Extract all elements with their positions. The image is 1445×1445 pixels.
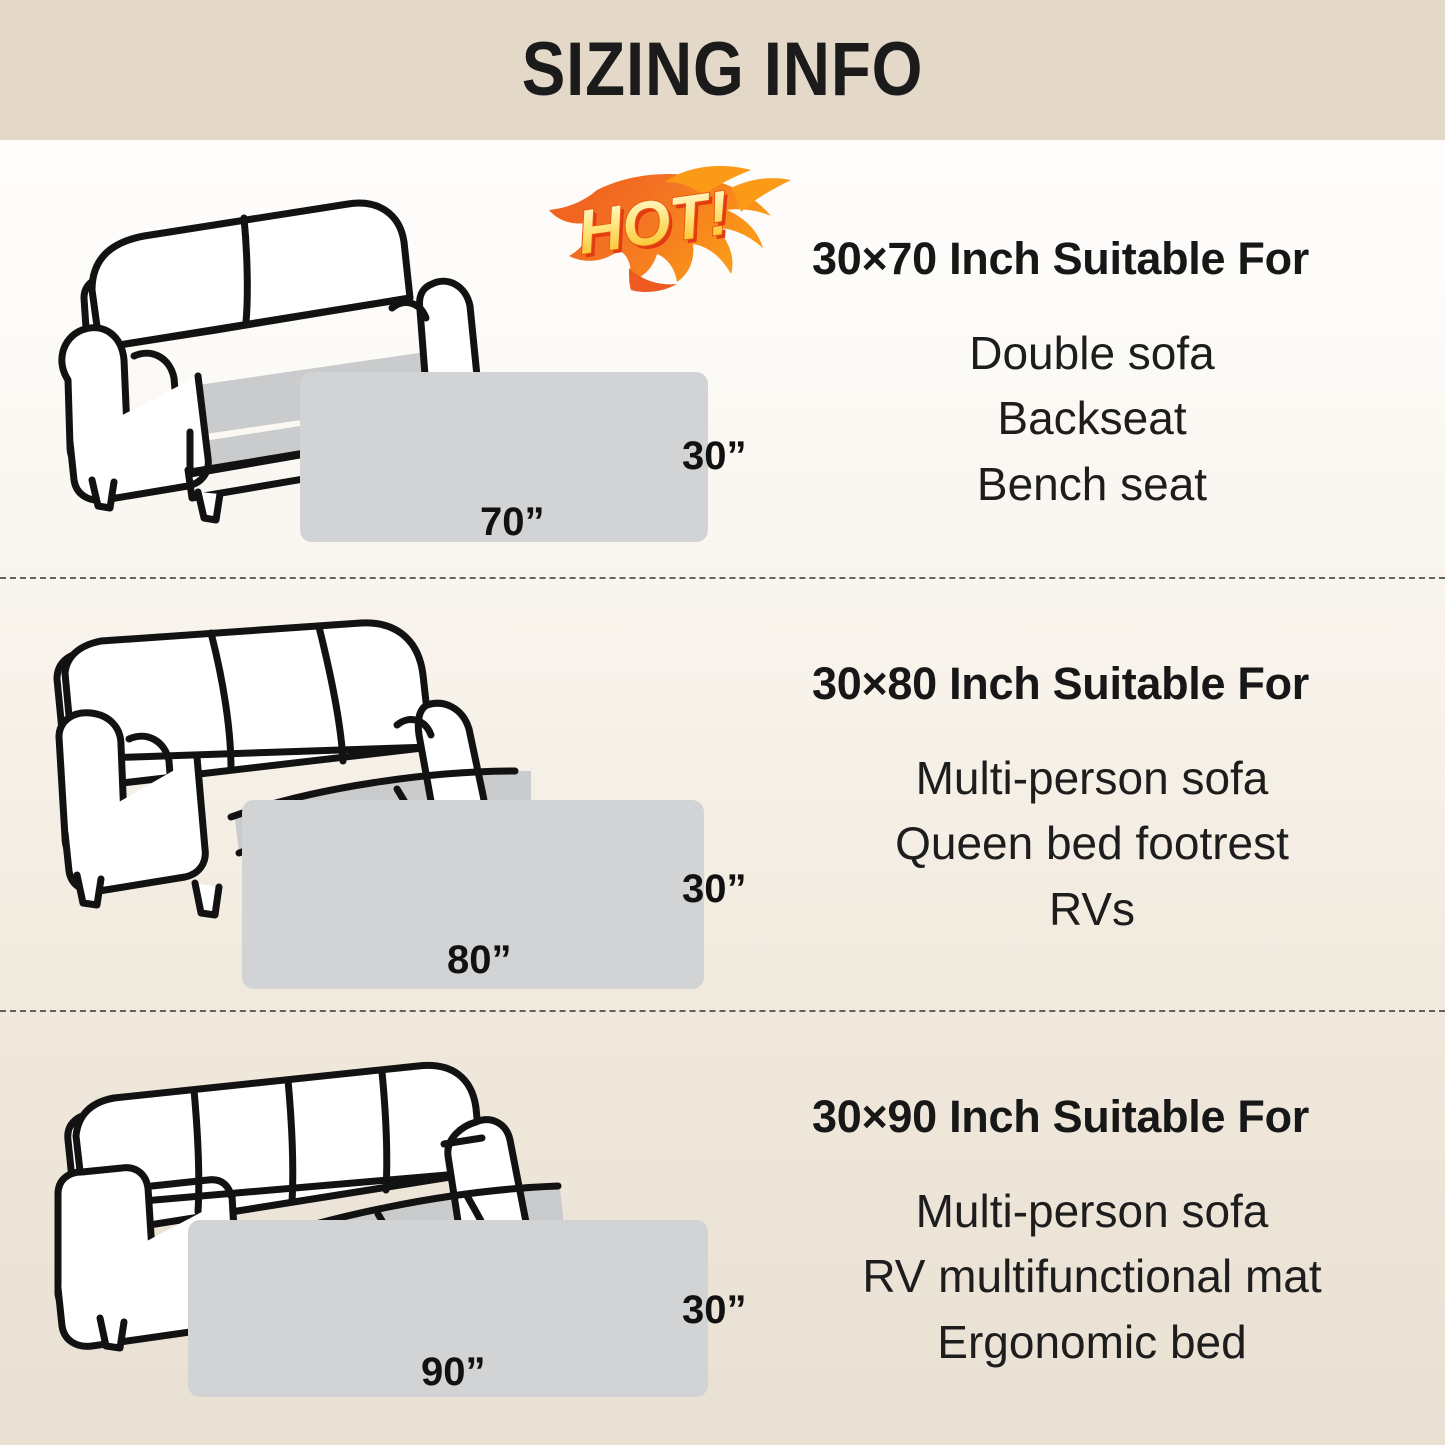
width-label-90: 90” <box>421 1352 486 1392</box>
text-column-30x70: 30×70 Inch Suitable For Double sofa Back… <box>812 236 1372 517</box>
use-item: Ergonomic bed <box>812 1310 1372 1375</box>
section-30x80: 80” 30” 30×80 Inch Suitable For Multi-pe… <box>0 579 1445 1010</box>
size-title-30x80: 30×80 Inch Suitable For <box>812 661 1372 706</box>
use-item: Double sofa <box>812 321 1372 386</box>
section-30x90: 90” 30” 30×90 Inch Suitable For Multi-pe… <box>0 1012 1445 1445</box>
size-title-30x90: 30×90 Inch Suitable For <box>812 1094 1372 1139</box>
width-label-70: 70” <box>480 502 545 542</box>
text-column-30x90: 30×90 Inch Suitable For Multi-person sof… <box>812 1094 1372 1375</box>
height-label-30: 30” <box>682 869 747 909</box>
use-item: Multi-person sofa <box>812 746 1372 811</box>
use-list-30x80: Multi-person sofa Queen bed footrest RVs <box>812 746 1372 942</box>
use-item: Bench seat <box>812 452 1372 517</box>
use-item: Multi-person sofa <box>812 1179 1372 1244</box>
text-column-30x80: 30×80 Inch Suitable For Multi-person sof… <box>812 661 1372 942</box>
size-title-30x70: 30×70 Inch Suitable For <box>812 236 1372 281</box>
use-list-30x70: Double sofa Backseat Bench seat <box>812 321 1372 517</box>
header-band: SIZING INFO <box>0 0 1445 140</box>
use-item: Backseat <box>812 386 1372 451</box>
height-label-30: 30” <box>682 436 747 476</box>
use-item: RVs <box>812 877 1372 942</box>
page-title: SIZING INFO <box>522 32 924 108</box>
section-30x70: HOT! HOT! 70” 30” 30×70 Inch Suitable Fo… <box>0 140 1445 577</box>
use-list-30x90: Multi-person sofa RV multifunctional mat… <box>812 1179 1372 1375</box>
height-label-30: 30” <box>682 1290 747 1330</box>
width-label-80: 80” <box>447 940 512 980</box>
hot-badge: HOT! HOT! <box>545 164 795 304</box>
sizing-info-page: SIZING INFO <box>0 0 1445 1445</box>
use-item: Queen bed footrest <box>812 811 1372 876</box>
use-item: RV multifunctional mat <box>812 1244 1372 1309</box>
